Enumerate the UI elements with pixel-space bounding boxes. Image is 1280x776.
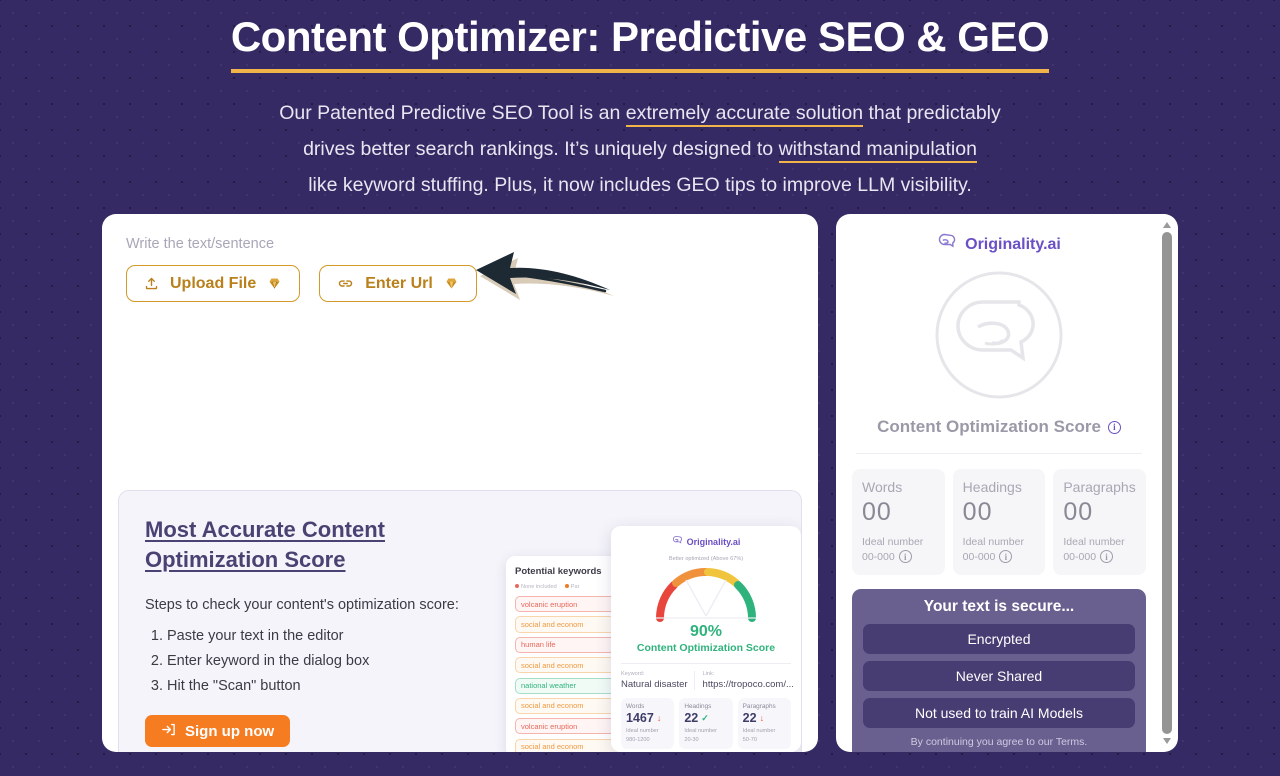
preview-link-field: Link: https://tropoco.com/... (694, 671, 800, 690)
trend-down-icon: ↓ (760, 713, 765, 723)
brain-icon (937, 232, 957, 257)
preview-score-label: Content Optimization Score (621, 642, 791, 654)
results-brand-label: Originality.ai (965, 236, 1061, 254)
preview-score-percent: 90% (621, 623, 791, 641)
scroll-down-arrow-icon[interactable] (1163, 738, 1171, 744)
preview-brand-label: Originality.ai (687, 537, 741, 547)
sign-up-now-button[interactable]: Sign up now (145, 715, 290, 747)
brain-icon (672, 535, 683, 548)
upload-file-label: Upload File (170, 275, 256, 293)
promo-card: Most Accurate Content Optimization Score… (118, 490, 802, 752)
stat-card-headings: Headings 00 Ideal number 00-000i (953, 469, 1046, 575)
results-brand: Originality.ai (852, 232, 1146, 257)
subheading-text: drives better search rankings. It’s uniq… (303, 138, 779, 160)
info-icon[interactable]: i (1108, 421, 1121, 434)
preview-keyword-value: Natural disaster (621, 679, 688, 690)
security-box: Your text is secure... Encrypted Never S… (852, 589, 1146, 752)
editor-panel: Write the text/sentence Upload File (102, 214, 818, 752)
panels-row: Write the text/sentence Upload File (102, 214, 1178, 752)
promo-title: Most Accurate Content Optimization Score (145, 515, 475, 575)
scroll-up-arrow-icon[interactable] (1163, 222, 1171, 228)
results-panel-content: Originality.ai Content Optimization Scor… (852, 232, 1162, 752)
preview-collage: Potential keywords None included Par vol… (506, 526, 801, 752)
subheading-link-accurate[interactable]: extremely accurate solution (626, 102, 863, 127)
preview-keyword-field: Keyword: Natural disaster (621, 671, 694, 690)
preview-gauge-note: Better optimized (Above 67%) (621, 556, 791, 562)
legend-item: None included (515, 584, 557, 590)
security-item-not-used-training: Not used to train AI Models (863, 698, 1135, 728)
sign-up-label: Sign up now (185, 723, 274, 740)
preview-link-value: https://tropoco.com/... (703, 679, 794, 690)
content-optimization-score-title: Content Optimization Score i (852, 417, 1146, 437)
editor-button-row: Upload File (126, 265, 794, 302)
enter-url-label: Enter Url (365, 275, 433, 293)
legend-item: Par (565, 584, 580, 590)
results-panel: Originality.ai Content Optimization Scor… (836, 214, 1178, 752)
stat-card-words: Words 00 Ideal number 00-000i (852, 469, 945, 575)
divider (856, 453, 1142, 454)
subheading-line-1: Our Patented Predictive SEO Tool is an e… (0, 95, 1280, 131)
editor-placeholder: Write the text/sentence (126, 236, 794, 252)
link-icon (337, 275, 354, 292)
preview-keyword-key: Keyword: (621, 671, 688, 677)
gem-icon (444, 276, 459, 291)
upload-file-button[interactable]: Upload File (126, 265, 300, 302)
check-icon: ✓ (701, 713, 709, 724)
subheading-line-3: like keyword stuffing. Plus, it now incl… (0, 167, 1280, 203)
enter-url-button[interactable]: Enter Url (319, 265, 477, 302)
upload-icon (144, 276, 159, 291)
preview-meta-row: Keyword: Natural disaster Link: https://… (621, 663, 791, 690)
preview-link-key: Link: (703, 671, 794, 677)
security-item-never-shared: Never Shared (863, 661, 1135, 691)
terms-line-1: By continuing you agree to our Terms. (863, 735, 1135, 750)
login-arrow-icon (161, 722, 176, 741)
stat-card-paragraphs: Paragraphs 00 Ideal number 00-000i (1053, 469, 1146, 575)
preview-score-card: Originality.ai Better optimized (Above 6… (611, 526, 801, 752)
page-header: Content Optimizer: Predictive SEO & GEO … (0, 0, 1280, 203)
subheading-link-manipulation[interactable]: withstand manipulation (779, 138, 977, 163)
subheading-text: that predictably (863, 102, 1001, 124)
security-item-encrypted: Encrypted (863, 624, 1135, 654)
gem-icon (267, 276, 282, 291)
preview-brand: Originality.ai (621, 535, 791, 548)
empty-brain-placeholder-icon (852, 269, 1146, 401)
page-subheading: Our Patented Predictive SEO Tool is an e… (0, 95, 1280, 203)
subheading-text: Our Patented Predictive SEO Tool is an (279, 102, 626, 124)
subheading-line-2: drives better search rankings. It’s uniq… (0, 131, 1280, 167)
preview-stats-row: Words 1467↓ Ideal number 980-1200 Headin… (621, 698, 791, 749)
preview-gauge (621, 564, 791, 622)
page-title: Content Optimizer: Predictive SEO & GEO (231, 14, 1049, 73)
trend-down-icon: ↓ (657, 713, 662, 723)
preview-stat-headings: Headings 22✓ Ideal number 20-30 (679, 698, 732, 749)
terms-text: By continuing you agree to our Terms. Th… (863, 735, 1135, 752)
info-icon[interactable]: i (1100, 550, 1113, 563)
scrollbar-thumb[interactable] (1162, 232, 1172, 734)
preview-stat-paragraphs: Paragraphs 22↓ Ideal number 50-70 (738, 698, 791, 749)
results-stats-row: Words 00 Ideal number 00-000i Headings 0… (852, 469, 1146, 575)
info-icon[interactable]: i (999, 550, 1012, 563)
info-icon[interactable]: i (899, 550, 912, 563)
vertical-scrollbar[interactable] (1159, 218, 1174, 748)
preview-stat-words: Words 1467↓ Ideal number 980-1200 (621, 698, 674, 749)
recaptcha-privacy-link[interactable]: This site is protected by Recaptcha and … (880, 751, 1118, 752)
security-title: Your text is secure... (863, 598, 1135, 616)
